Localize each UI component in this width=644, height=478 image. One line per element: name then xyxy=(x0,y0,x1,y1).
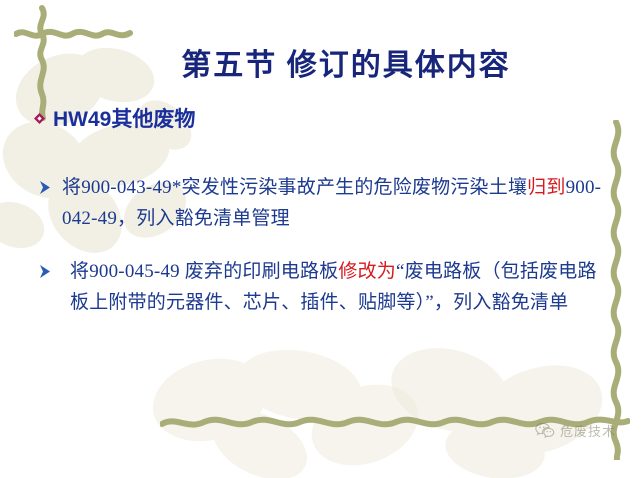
channel-watermark: 危废技术 xyxy=(535,421,616,440)
slide-title: 第五节 修订的具体内容 xyxy=(0,40,644,84)
arrow-bullet-icon xyxy=(38,259,52,285)
bullet-segment: 将900-043-49*突发性污染事故产生的危险废物污染土壤 xyxy=(62,177,527,198)
bullet-text: 将900-043-49*突发性污染事故产生的危险废物污染土壤归到900-042-… xyxy=(62,172,610,234)
floral-watermark-icon xyxy=(150,330,450,478)
bullet-segment: 将900-045-49 废弃的印刷电路板 xyxy=(70,261,338,282)
section-heading: HW49其他废物 xyxy=(34,103,195,133)
wechat-icon xyxy=(535,422,555,439)
presentation-slide: 第五节 修订的具体内容 HW49其他废物 将900-043-49*突发性污染事故… xyxy=(0,0,644,478)
section-heading-label: HW49其他废物 xyxy=(53,103,195,133)
bullet-segment-highlight: 修改为 xyxy=(338,261,396,282)
bullet-item: 将900-043-49*突发性污染事故产生的危险废物污染土壤归到900-042-… xyxy=(38,172,610,234)
watermark-label: 危废技术 xyxy=(560,421,616,440)
floral-watermark-icon xyxy=(380,330,630,478)
bullet-segment-highlight: 归到 xyxy=(527,177,565,198)
bullet-text: 将900-045-49 废弃的印刷电路板修改为“废电路板（包括废电路板上附带的元… xyxy=(70,256,610,318)
bullet-item: 将900-045-49 废弃的印刷电路板修改为“废电路板（包括废电路板上附带的元… xyxy=(38,256,610,318)
diamond-bullet-icon xyxy=(34,113,45,124)
arrow-bullet-icon xyxy=(38,175,52,201)
